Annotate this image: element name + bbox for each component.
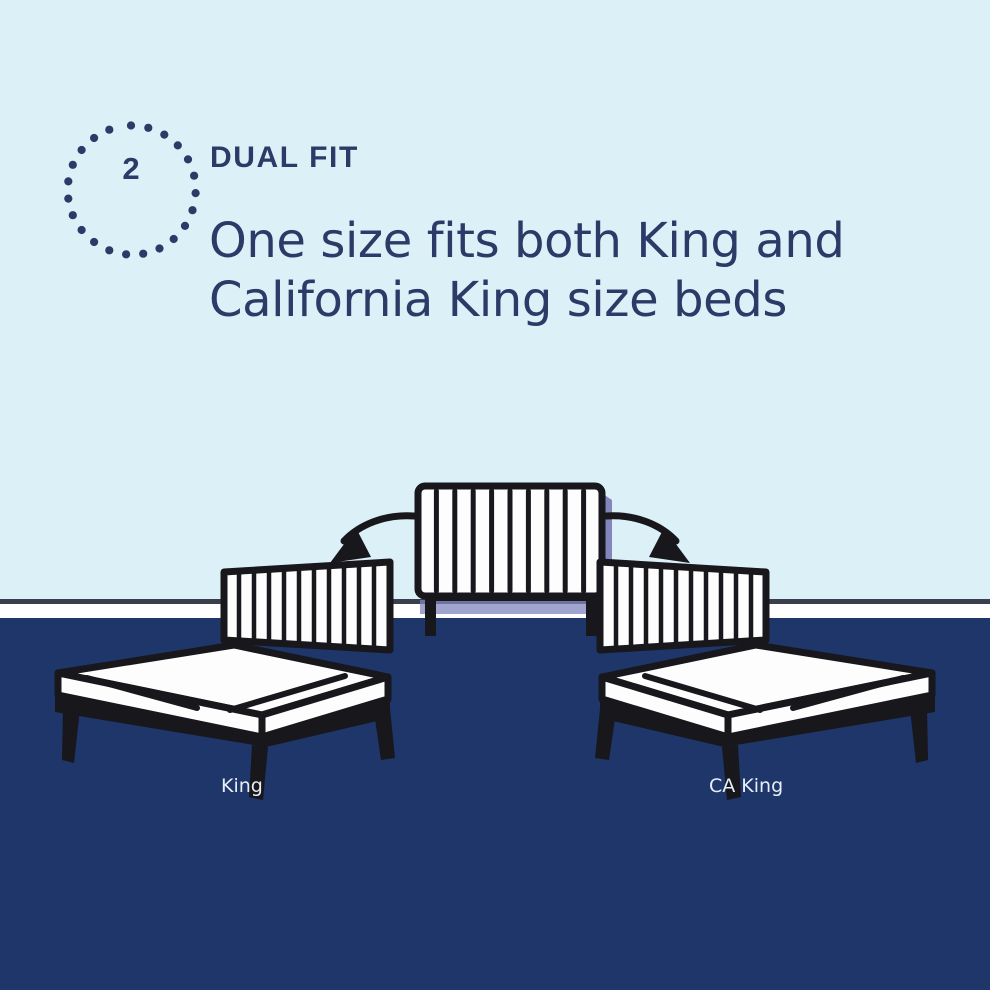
bed-label-king: King xyxy=(221,775,263,797)
step-number-value: 2 xyxy=(88,126,174,212)
headline-line-2: California King size beds xyxy=(209,271,949,330)
bed-label-ca-king: CA King xyxy=(709,775,783,797)
headline: One size fits both King and California K… xyxy=(209,212,949,329)
step-number-badge: 2 xyxy=(88,126,174,212)
illustration-canvas: 2 DUAL FIT One size fits both King and C… xyxy=(0,0,990,990)
floor-background xyxy=(0,618,990,990)
headline-line-1: One size fits both King and xyxy=(209,213,844,269)
section-eyebrow-label: DUAL FIT xyxy=(210,141,359,175)
baseboard xyxy=(0,604,990,618)
